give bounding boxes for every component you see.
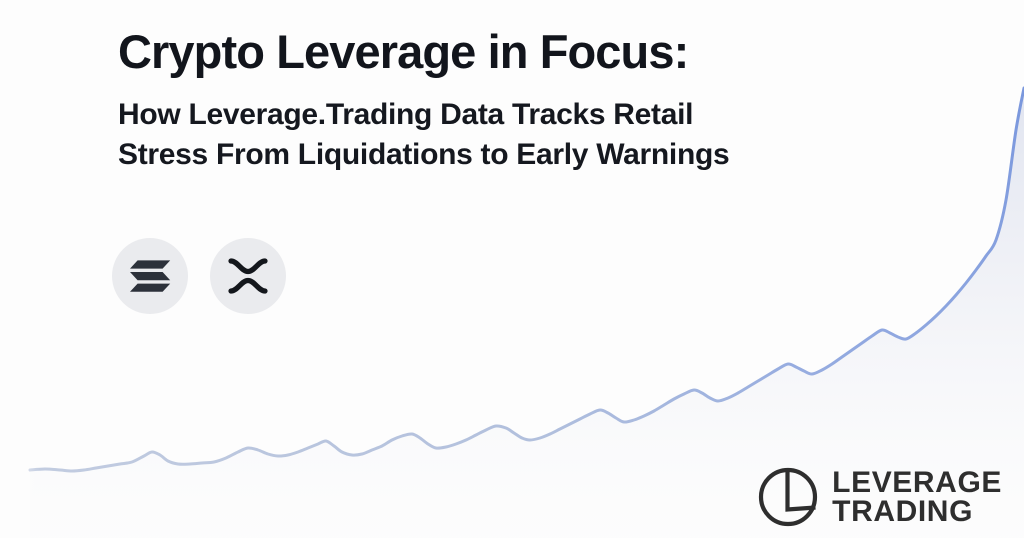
- headline-block: Crypto Leverage in Focus: How Leverage.T…: [118, 26, 938, 175]
- subtitle-line-2: Stress From Liquidations to Early Warnin…: [118, 135, 938, 175]
- page-title: Crypto Leverage in Focus:: [118, 26, 938, 79]
- leverage-trading-circle-l-icon: [757, 466, 819, 528]
- xrp-icon: [227, 257, 269, 295]
- page-subtitle: How Leverage.Trading Data Tracks Retail …: [118, 95, 938, 175]
- brand-line-2: TRADING: [832, 497, 1002, 526]
- brand-logo: LEVERAGE TRADING: [757, 466, 1002, 528]
- subtitle-line-1: How Leverage.Trading Data Tracks Retail: [118, 95, 938, 135]
- coin-badge-sol: [112, 238, 188, 314]
- coin-badge-xrp: [210, 238, 286, 314]
- solana-icon: [129, 259, 171, 293]
- brand-line-1: LEVERAGE: [832, 468, 1002, 497]
- brand-wordmark: LEVERAGE TRADING: [832, 468, 1002, 526]
- banner-graphic: Crypto Leverage in Focus: How Leverage.T…: [0, 0, 1024, 538]
- coin-badge-row: [112, 238, 286, 314]
